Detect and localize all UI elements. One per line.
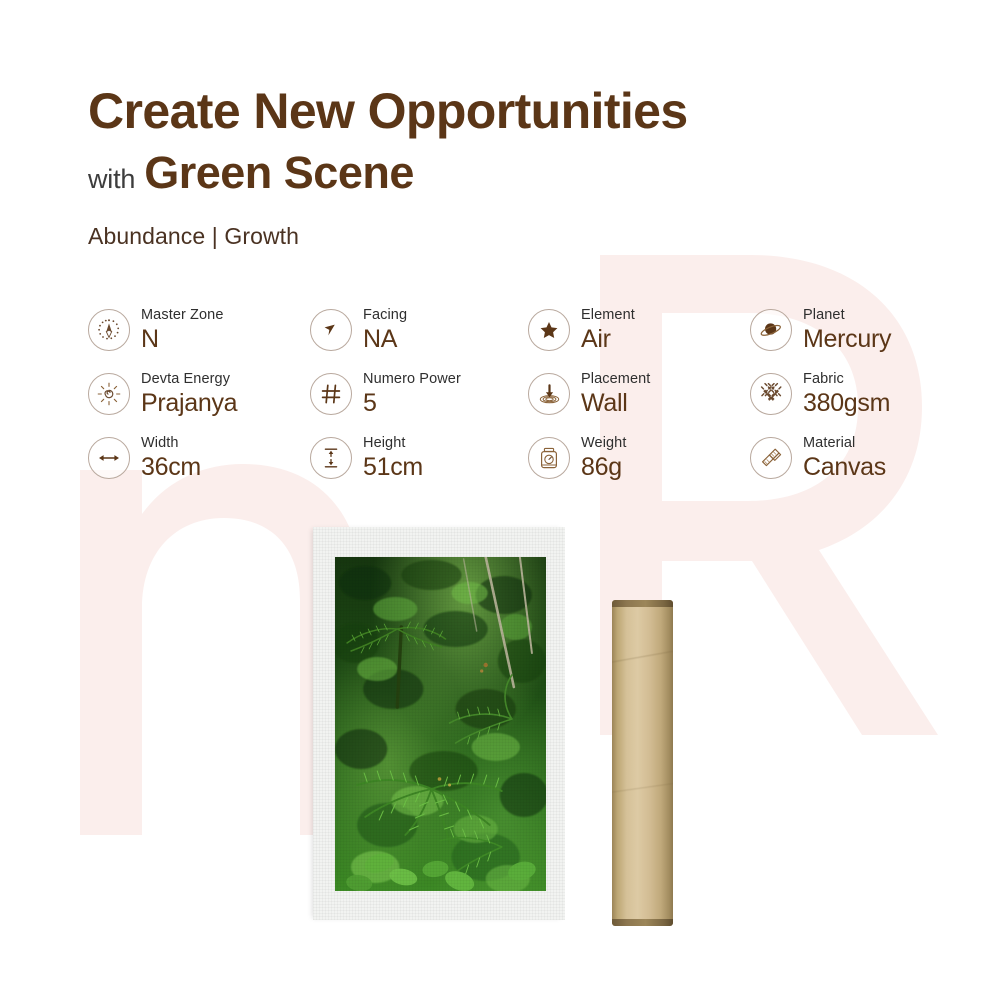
placement-target-icon bbox=[528, 373, 570, 415]
attribute-value: NA bbox=[363, 327, 407, 352]
attribute-label: Numero Power bbox=[363, 372, 461, 387]
attribute-fabric: Fabric 380gsm bbox=[750, 362, 968, 426]
attribute-label: Placement bbox=[581, 372, 650, 387]
attribute-label: Material bbox=[803, 436, 886, 451]
attribute-label: Facing bbox=[363, 308, 407, 323]
hash-grid-icon bbox=[310, 373, 352, 415]
attribute-label: Devta Energy bbox=[141, 372, 237, 387]
attribute-label: Width bbox=[141, 436, 201, 451]
product-name: Green Scene bbox=[144, 150, 414, 195]
attribute-label: Planet bbox=[803, 308, 891, 323]
attribute-facing: Facing NA bbox=[310, 298, 528, 362]
attribute-devta-energy: Devta Energy Prajanya bbox=[88, 362, 310, 426]
attribute-value: N bbox=[141, 327, 224, 352]
fabric-swatch-icon bbox=[750, 437, 792, 479]
weave-pattern-icon bbox=[750, 373, 792, 415]
header-block: Create New Opportunities with Green Scen… bbox=[88, 86, 688, 250]
page-title: Create New Opportunities bbox=[88, 86, 688, 136]
with-word: with bbox=[88, 164, 135, 195]
attribute-value: Air bbox=[581, 327, 635, 352]
attribute-grid: Master Zone N Facing NA bbox=[88, 298, 968, 490]
attribute-value: Mercury bbox=[803, 327, 891, 352]
attribute-label: Element bbox=[581, 308, 635, 323]
attribute-label: Height bbox=[363, 436, 423, 451]
attribute-material: Material Canvas bbox=[750, 426, 968, 490]
compass-icon bbox=[88, 309, 130, 351]
tube-top-rim bbox=[612, 600, 673, 607]
attribute-value: 36cm bbox=[141, 455, 201, 480]
attribute-value: Canvas bbox=[803, 455, 886, 480]
artwork-image bbox=[335, 557, 546, 891]
attribute-numero-power: Numero Power 5 bbox=[310, 362, 528, 426]
canvas-frame[interactable] bbox=[313, 527, 565, 920]
tube-bottom-rim bbox=[612, 919, 673, 926]
attribute-weight: Weight 86g bbox=[528, 426, 750, 490]
tube-seam bbox=[612, 600, 673, 926]
attribute-value: 5 bbox=[363, 391, 461, 416]
attribute-label: Weight bbox=[581, 436, 626, 451]
attribute-placement: Placement Wall bbox=[528, 362, 750, 426]
attribute-label: Master Zone bbox=[141, 308, 224, 323]
attribute-planet: Planet Mercury bbox=[750, 298, 968, 362]
infographic-page: Create New Opportunities with Green Scen… bbox=[0, 0, 1000, 1000]
attribute-label: Fabric bbox=[803, 372, 890, 387]
attribute-height: Height 51cm bbox=[310, 426, 528, 490]
attribute-element: Element Air bbox=[528, 298, 750, 362]
shipping-tube[interactable] bbox=[612, 600, 673, 926]
planet-icon bbox=[750, 309, 792, 351]
product-subtitle: with Green Scene bbox=[88, 150, 688, 195]
direction-arrow-icon bbox=[310, 309, 352, 351]
horizontal-arrows-icon bbox=[88, 437, 130, 479]
star-icon bbox=[528, 309, 570, 351]
attribute-value: 51cm bbox=[363, 455, 423, 480]
attribute-value: Prajanya bbox=[141, 391, 237, 416]
attribute-master-zone: Master Zone N bbox=[88, 298, 310, 362]
attribute-value: 380gsm bbox=[803, 391, 890, 416]
attribute-width: Width 36cm bbox=[88, 426, 310, 490]
vertical-arrows-icon bbox=[310, 437, 352, 479]
sun-spiral-icon bbox=[88, 373, 130, 415]
attribute-value: 86g bbox=[581, 455, 626, 480]
attribute-value: Wall bbox=[581, 391, 650, 416]
tagline: Abundance | Growth bbox=[88, 223, 688, 250]
weighing-scale-icon bbox=[528, 437, 570, 479]
